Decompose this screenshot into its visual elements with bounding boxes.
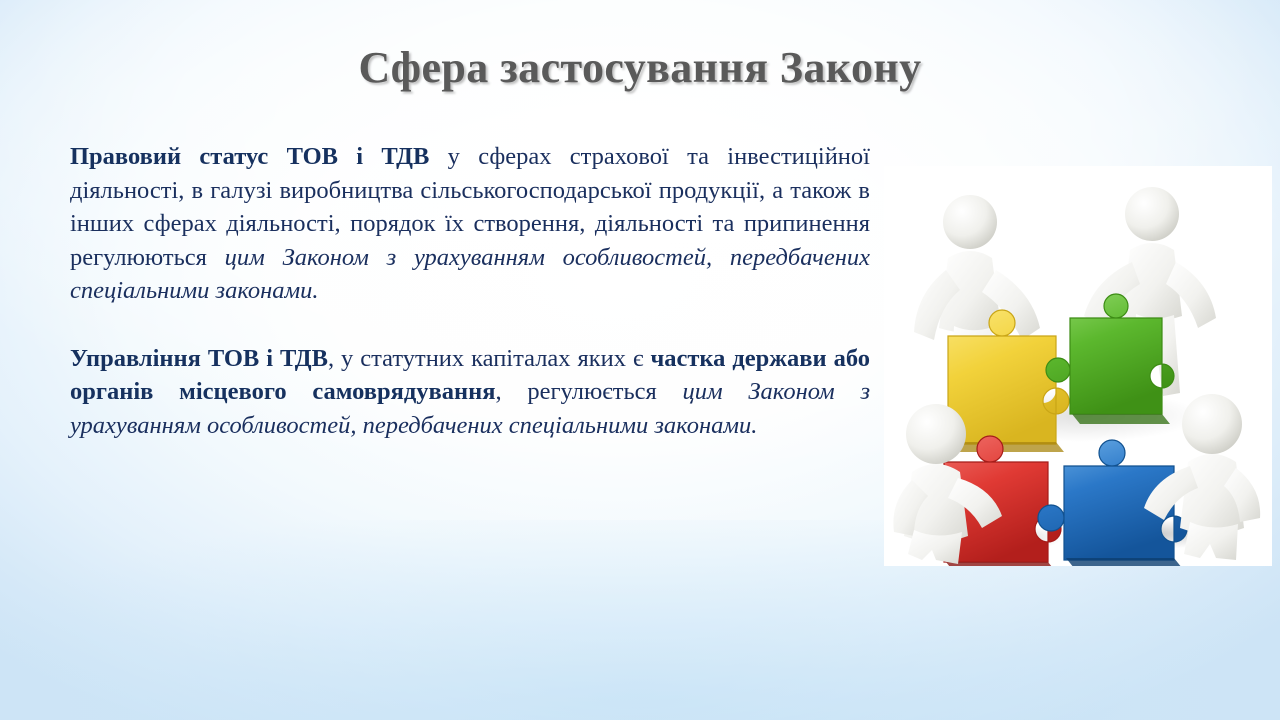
- body-text: Правовий статус ТОВ і ТДВ у сферах страх…: [70, 140, 870, 451]
- paragraph-1-run-1: Правовий статус ТОВ і ТДВ: [70, 143, 429, 170]
- paragraph-2-run-1: Управління ТОВ і ТДВ: [70, 345, 328, 372]
- paragraph-2-run-4: , регулюється: [496, 378, 683, 405]
- slide: Сфера застосування Закону Правовий стату…: [0, 0, 1280, 720]
- page-title: Сфера застосування Закону: [0, 42, 1280, 93]
- teamwork-puzzle-illustration: Чотири білі 3D-фігурки складають кольоро…: [884, 166, 1272, 566]
- paragraph-2-run-2: , у статутних капіталах яких є: [328, 345, 650, 372]
- paragraph-1: Правовий статус ТОВ і ТДВ у сферах страх…: [70, 140, 870, 308]
- paragraph-2: Управління ТОВ і ТДВ, у статутних капіта…: [70, 342, 870, 443]
